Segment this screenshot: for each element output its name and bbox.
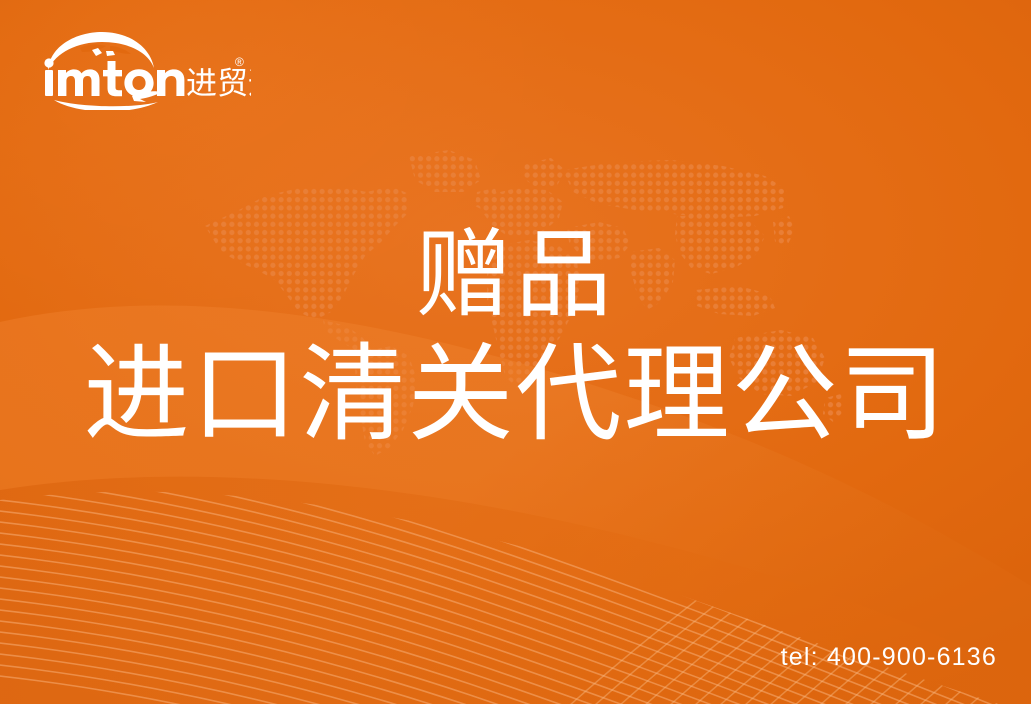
headline-line-2: 进口清关代理公司 [0,342,1031,448]
trademark-symbol: ® [235,55,244,69]
contact-phone: tel: 400-900-6136 [781,643,997,672]
poster-canvas: 进贸通 ® 赠品 进口清关代理公司 tel: 400-900-6136 [0,0,1031,704]
page-title: 赠品 进口清关代理公司 [0,228,1031,448]
headline-line-1: 赠品 [0,228,1031,324]
brand-logo: 进贸通 ® [36,26,251,110]
logo-chinese-text: 进贸通 [186,66,251,101]
